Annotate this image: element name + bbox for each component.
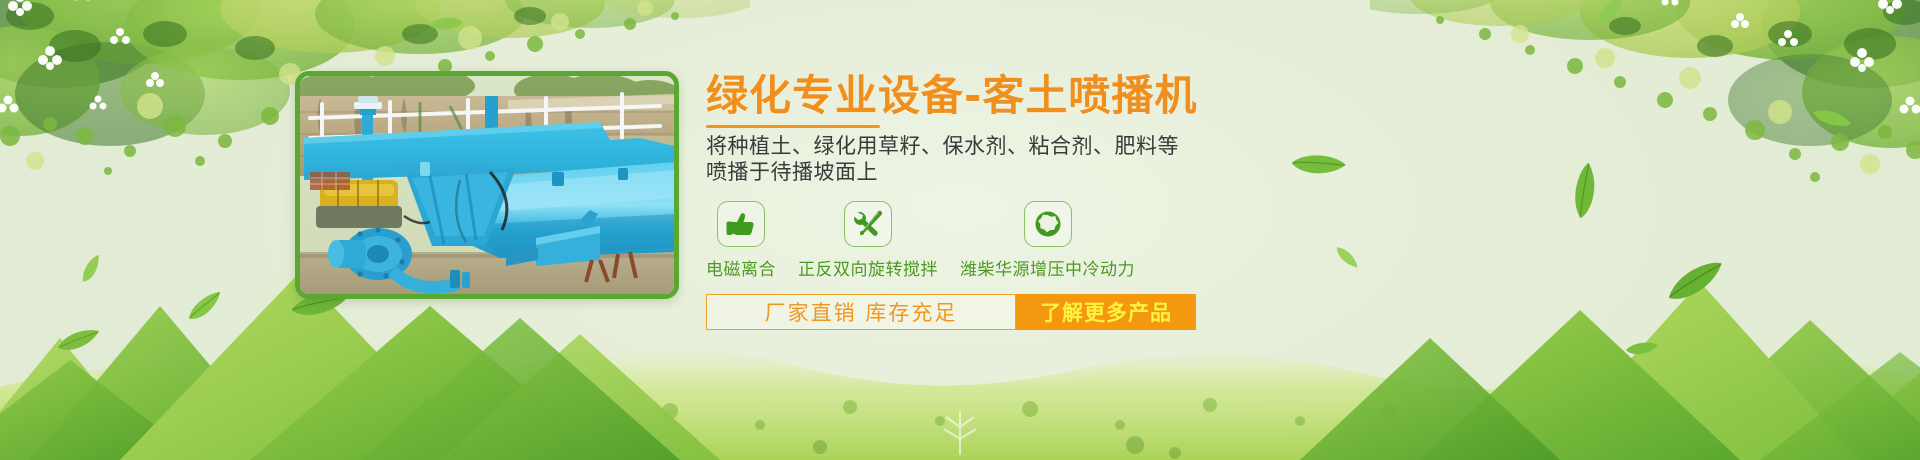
feature-item-1: 电磁离合 <box>706 201 776 280</box>
floating-leaf-8 <box>1806 98 1854 144</box>
floating-leaf-7 <box>1559 160 1617 226</box>
subtitle-line-1: 将种植土、绿化用草籽、保水剂、粘合剂、肥料等 <box>706 133 1266 159</box>
floating-leaf-4 <box>74 253 112 289</box>
feature-item-3: 潍柴华源增压中冷动力 <box>960 201 1135 280</box>
feature-label-3: 潍柴华源增压中冷动力 <box>960 255 1135 280</box>
product-photo <box>300 76 674 294</box>
gear-icon <box>1024 201 1072 247</box>
feature-label-2: 正反双向旋转搅拌 <box>798 255 938 280</box>
promo-banner: 绿化专业设备-客土喷播机 将种植土、绿化用草籽、保水剂、粘合剂、肥料等 喷播于待… <box>0 0 1920 460</box>
floating-leaf-9 <box>1662 260 1730 309</box>
page-title: 绿化专业设备-客土喷播机 <box>706 74 1486 119</box>
feature-item-2: 正反双向旋转搅拌 <box>798 201 938 280</box>
floating-leaf-1 <box>55 328 101 359</box>
tools-icon <box>844 201 892 247</box>
floating-leaf-5 <box>427 3 468 38</box>
title-divider <box>706 125 880 128</box>
floating-leaf-10 <box>1591 0 1634 31</box>
floating-leaf-2 <box>182 289 231 330</box>
subtitle-line-2: 喷播于待播坡面上 <box>706 159 1266 185</box>
learn-more-button[interactable]: 了解更多产品 <box>1016 294 1196 330</box>
cta-bar: 厂家直销 库存充足 了解更多产品 <box>706 294 1196 330</box>
banner-content: 绿化专业设备-客土喷播机 将种植土、绿化用草籽、保水剂、粘合剂、肥料等 喷播于待… <box>706 74 1486 330</box>
feature-list: 电磁离合 正反双向旋转搅 <box>706 201 1486 280</box>
subtitle: 将种植土、绿化用草籽、保水剂、粘合剂、肥料等 喷播于待播坡面上 <box>706 133 1266 186</box>
thumbs-up-icon <box>717 201 765 247</box>
cta-tagline: 厂家直销 库存充足 <box>706 294 1016 330</box>
product-photo-frame <box>295 71 679 299</box>
feature-label-1: 电磁离合 <box>706 255 776 280</box>
floating-leaf-12 <box>1623 336 1660 366</box>
